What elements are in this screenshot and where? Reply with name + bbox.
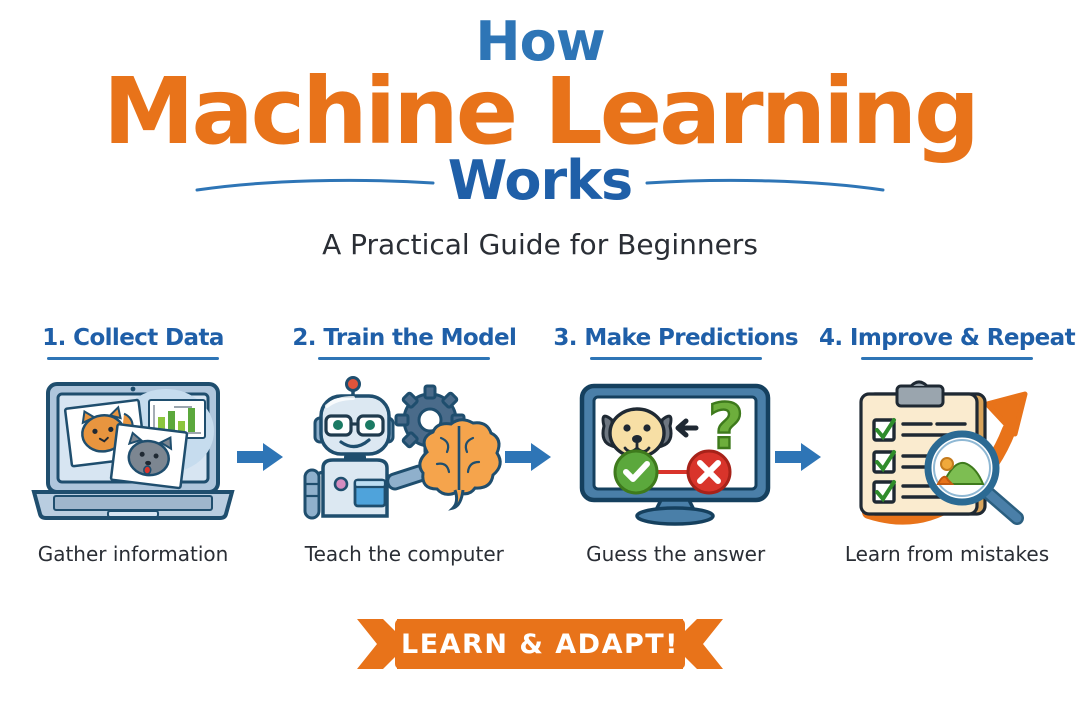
step-4-caption: Learn from mistakes bbox=[845, 542, 1049, 566]
step-1-collect-data: 1. Collect Data bbox=[18, 325, 248, 566]
step-2-caption: Teach the computer bbox=[305, 542, 504, 566]
connector-arrow-1 bbox=[237, 440, 283, 474]
title-swash-left-icon bbox=[195, 178, 435, 192]
step-4-heading: 4. Improve & Repeat bbox=[819, 325, 1075, 351]
step-2-heading: 2. Train the Model bbox=[292, 325, 516, 351]
step-3-caption: Guess the answer bbox=[586, 542, 765, 566]
learn-and-adapt-banner: LEARN & ADAPT! bbox=[357, 617, 723, 671]
step-4-underline bbox=[861, 357, 1033, 360]
step-1-caption: Gather information bbox=[38, 542, 229, 566]
step-1-heading: 1. Collect Data bbox=[42, 325, 224, 351]
title-line-machine-learning: Machine Learning bbox=[0, 66, 1080, 158]
title-block: How Machine Learning Works A Practical G… bbox=[0, 8, 1080, 261]
arrow-right-icon bbox=[775, 440, 821, 474]
ribbon-label: LEARN & ADAPT! bbox=[357, 617, 723, 671]
robot-with-brain-icon bbox=[297, 376, 512, 526]
title-swash-right-icon bbox=[645, 178, 885, 192]
brain-icon bbox=[420, 420, 500, 508]
step-2-train-the-model: 2. Train the Model bbox=[289, 325, 519, 566]
laptop-with-photos-icon bbox=[26, 376, 241, 526]
connector-arrow-3 bbox=[775, 440, 821, 474]
step-1-underline bbox=[47, 357, 219, 360]
step-3-underline bbox=[590, 357, 762, 360]
step-4-improve-and-repeat: 4. Improve & Repeat bbox=[832, 325, 1062, 566]
ribbon-wrap: LEARN & ADAPT! bbox=[0, 617, 1080, 671]
title-works-row: Works bbox=[0, 152, 1080, 214]
step-2-underline bbox=[318, 357, 490, 360]
monitor-with-dog-icon: ? bbox=[568, 376, 783, 526]
steps-row: 1. Collect Data bbox=[0, 325, 1080, 595]
step-3-make-predictions: 3. Make Predictions bbox=[561, 325, 791, 566]
subtitle: A Practical Guide for Beginners bbox=[0, 228, 1080, 261]
arrow-right-icon bbox=[237, 440, 283, 474]
title-line-works: Works bbox=[448, 149, 632, 212]
step-3-heading: 3. Make Predictions bbox=[553, 325, 798, 351]
connector-arrow-2 bbox=[505, 440, 551, 474]
clipboard-magnifier-icon bbox=[839, 376, 1054, 526]
arrow-right-icon bbox=[505, 440, 551, 474]
infographic-page: How Machine Learning Works A Practical G… bbox=[0, 0, 1080, 720]
